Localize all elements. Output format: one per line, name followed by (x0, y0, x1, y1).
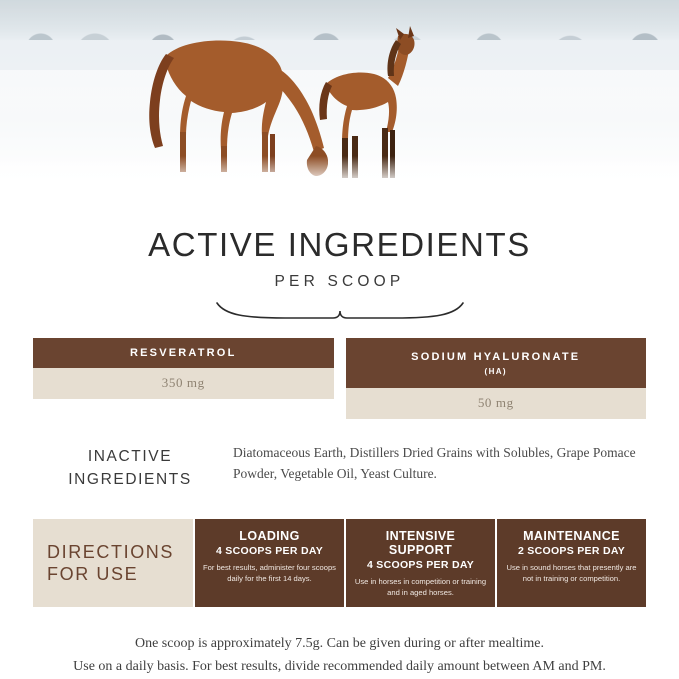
directions-detail: Use in horses in competition or training… (354, 577, 487, 598)
directions-dose: 4 SCOOPS PER DAY (354, 559, 487, 571)
directions-column-maintenance: MAINTENANCE 2 SCOOPS PER DAY Use in soun… (495, 519, 646, 607)
directions-detail: Use in sound horses that presently are n… (505, 563, 638, 584)
ingredient-column: RESVERATROL 350 mg (33, 338, 334, 419)
ingredient-name: SODIUM HYALURONATE (411, 351, 580, 363)
directions-label: DIRECTIONS FOR USE (33, 519, 193, 607)
footer-line-2: Use on a daily basis. For best results, … (40, 656, 639, 679)
hero-photo (0, 0, 679, 190)
ingredient-abbreviation: (HA) (352, 367, 641, 376)
directions-title: MAINTENANCE (505, 529, 638, 543)
ingredient-name-header: SODIUM HYALURONATE (HA) (346, 338, 647, 388)
inactive-label-line2: INGREDIENTS (33, 468, 227, 491)
ingredient-name-header: RESVERATROL (33, 338, 334, 368)
directions-detail: For best results, administer four scoops… (203, 563, 336, 584)
active-ingredients-table: RESVERATROL 350 mg SODIUM HYALURONATE (H… (33, 338, 646, 419)
inactive-ingredients-section: INACTIVE INGREDIENTS Diatomaceous Earth,… (33, 443, 646, 492)
directions-column-intensive-support: INTENSIVE SUPPORT 4 SCOOPS PER DAY Use i… (344, 519, 495, 607)
inactive-ingredients-label: INACTIVE INGREDIENTS (33, 443, 227, 492)
directions-dose: 4 SCOOPS PER DAY (203, 545, 336, 557)
ingredient-amount: 50 mg (346, 388, 647, 419)
inactive-label-line1: INACTIVE (33, 445, 227, 468)
page-subtitle: PER SCOOP (0, 273, 679, 291)
footer-note: One scoop is approximately 7.5g. Can be … (40, 633, 639, 678)
directions-dose: 2 SCOOPS PER DAY (505, 545, 638, 557)
directions-label-line2: FOR USE (47, 563, 193, 586)
directions-for-use-section: DIRECTIONS FOR USE LOADING 4 SCOOPS PER … (33, 519, 646, 607)
inactive-ingredients-text: Diatomaceous Earth, Distillers Dried Gra… (227, 443, 646, 485)
decorative-swash-divider (215, 300, 465, 320)
directions-column-loading: LOADING 4 SCOOPS PER DAY For best result… (193, 519, 344, 607)
directions-title: INTENSIVE SUPPORT (354, 529, 487, 557)
directions-label-line1: DIRECTIONS (47, 541, 193, 564)
hero-bottom-fade (0, 156, 679, 190)
ingredient-column: SODIUM HYALURONATE (HA) 50 mg (346, 338, 647, 419)
title-block: ACTIVE INGREDIENTS PER SCOOP (0, 228, 679, 320)
product-label-page: ACTIVE INGREDIENTS PER SCOOP RESVERATROL… (0, 0, 679, 679)
ingredient-amount: 350 mg (33, 368, 334, 399)
footer-line-1: One scoop is approximately 7.5g. Can be … (40, 633, 639, 656)
page-title: ACTIVE INGREDIENTS (0, 228, 679, 261)
directions-title: LOADING (203, 529, 336, 543)
ingredient-name: RESVERATROL (130, 347, 237, 359)
